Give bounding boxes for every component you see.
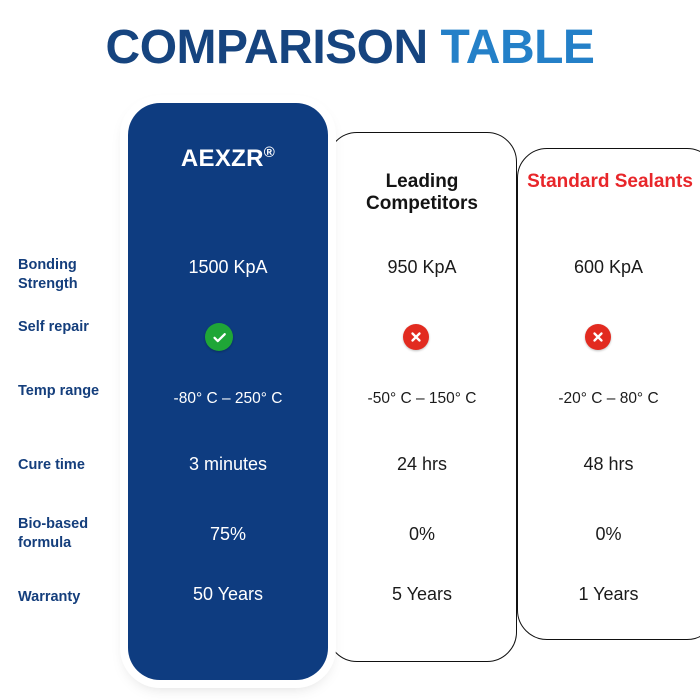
check-circle-icon (205, 323, 233, 351)
cell-temp-range-standard: -20° C – 80° C (517, 390, 700, 409)
row-label-bonding-strength: Bonding Strength (18, 256, 128, 293)
cell-cure-time-standard: 48 hrs (517, 454, 700, 476)
cell-bonding-strength-competitors: 950 KpA (327, 257, 517, 279)
cell-warranty-standard: 1 Years (517, 584, 700, 606)
row-label-temp-range: Temp range (18, 382, 128, 401)
cell-cure-time-competitors: 24 hrs (327, 454, 517, 476)
cross-circle-icon (585, 324, 611, 350)
cell-bonding-strength-standard: 600 KpA (517, 257, 700, 279)
cell-temp-range-competitors: -50° C – 150° C (327, 390, 517, 409)
row-label-bio-based-formula: Bio-based formula (18, 515, 128, 552)
cell-bio-based-aexzr: 75% (128, 524, 328, 546)
column-header-leading-competitors: Leading Competitors (332, 171, 512, 216)
cell-warranty-competitors: 5 Years (327, 584, 517, 606)
row-label-warranty: Warranty (18, 588, 128, 607)
cell-bio-based-competitors: 0% (327, 524, 517, 546)
cross-circle-icon (403, 324, 429, 350)
cell-warranty-aexzr: 50 Years (128, 584, 328, 606)
cell-bio-based-standard: 0% (517, 524, 700, 546)
column-header-standard-sealants: Standard Sealants (520, 171, 700, 193)
cell-cure-time-aexzr: 3 minutes (128, 454, 328, 476)
cell-temp-range-aexzr: -80° C – 250° C (128, 390, 328, 409)
column-header-aexzr: AEXZR® (128, 144, 328, 173)
cell-bonding-strength-aexzr: 1500 KpA (128, 257, 328, 279)
row-label-self-repair: Self repair (18, 318, 128, 337)
comparison-table: AEXZR® Leading Competitors Standard Seal… (0, 0, 700, 700)
table-grid: AEXZR® Leading Competitors Standard Seal… (0, 0, 700, 700)
registered-trademark-icon: ® (264, 144, 275, 161)
row-label-cure-time: Cure time (18, 456, 128, 475)
